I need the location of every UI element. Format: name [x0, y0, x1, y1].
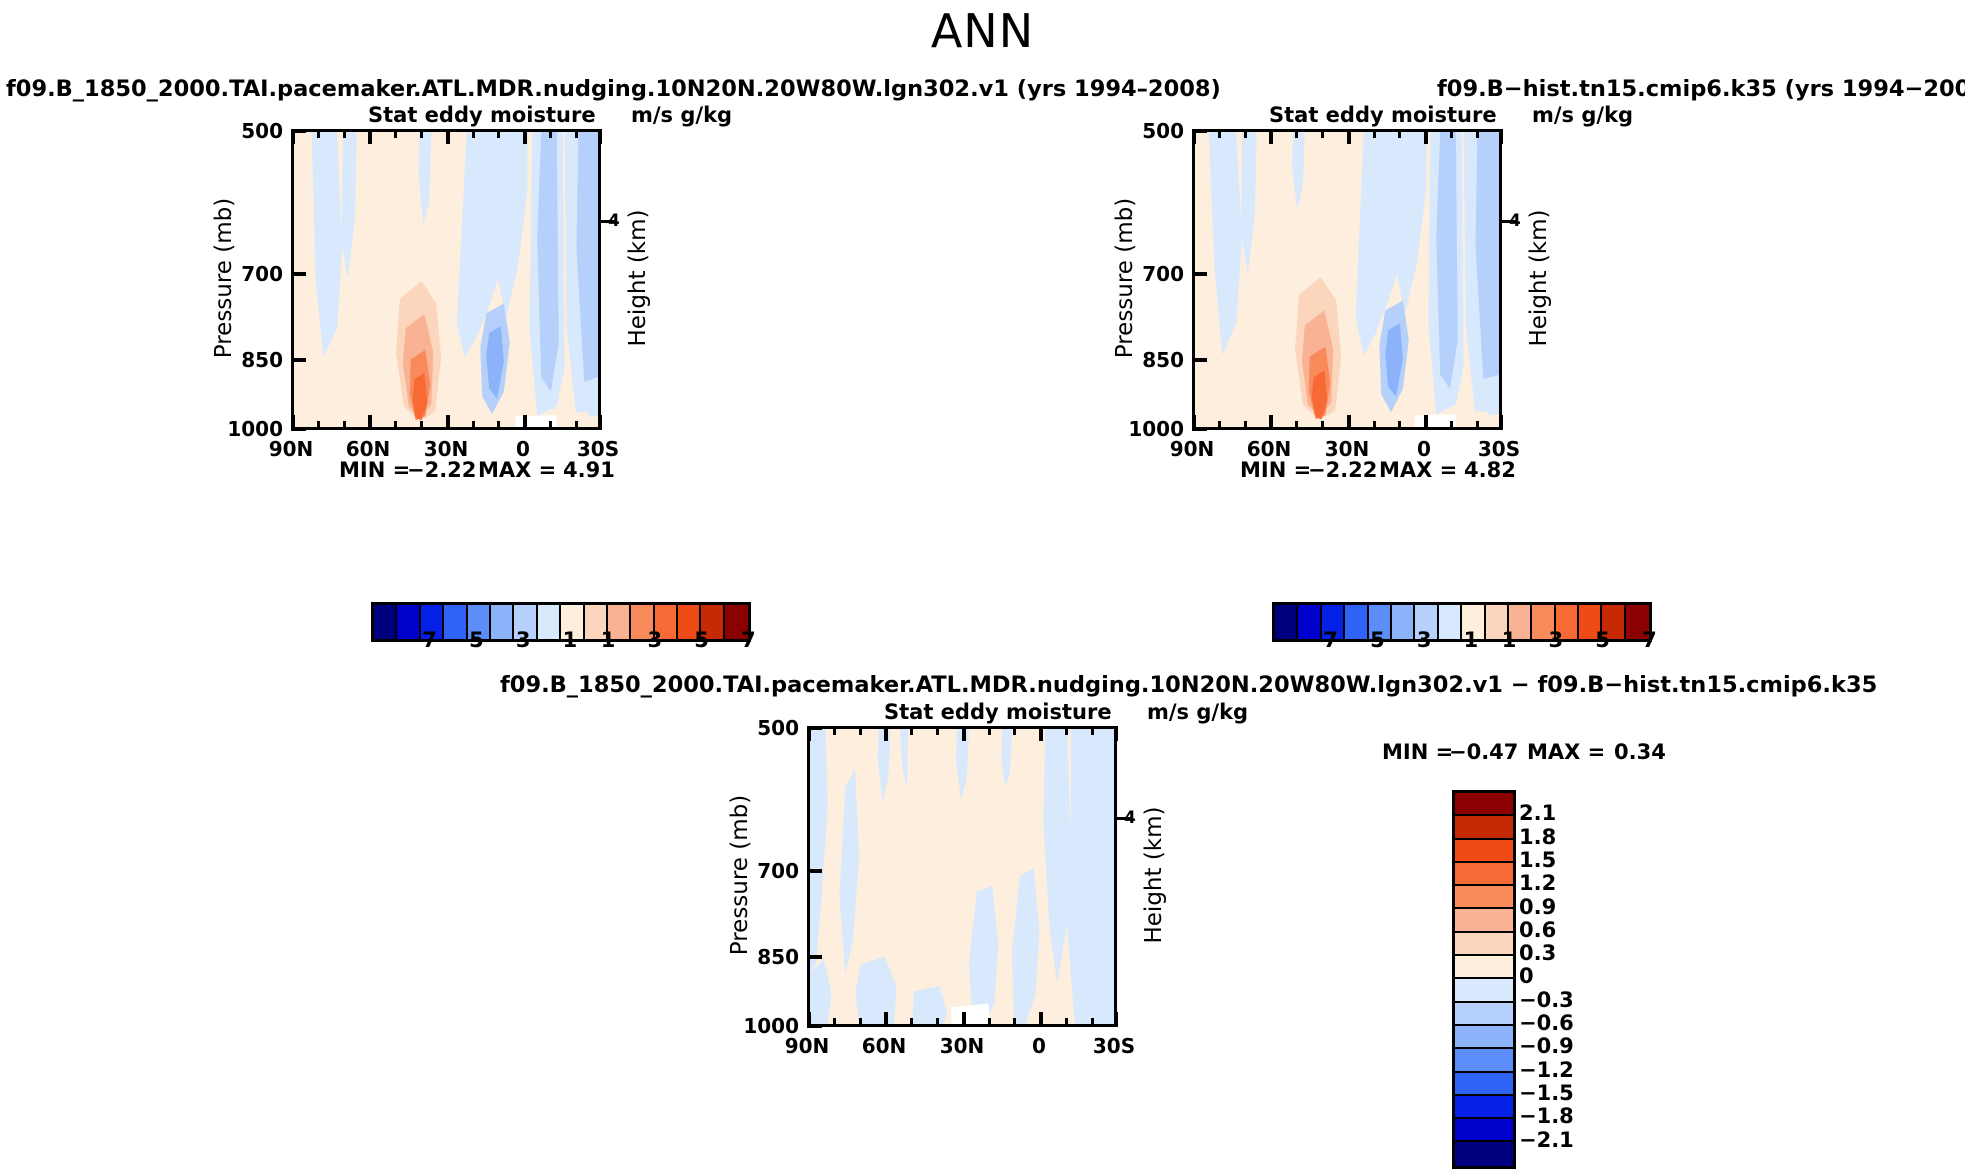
tick	[1398, 421, 1401, 430]
tick	[420, 129, 423, 138]
tick	[291, 129, 306, 133]
tick	[807, 869, 822, 873]
tick	[598, 415, 602, 430]
tick	[936, 726, 939, 735]
tick	[446, 415, 450, 430]
tick	[343, 129, 346, 138]
tick	[368, 129, 372, 144]
tick	[833, 1018, 836, 1027]
tick	[1114, 1012, 1118, 1027]
colorbar-tick-label: 1	[601, 628, 616, 652]
colorbar-tick-label: 7	[741, 628, 756, 652]
min-label-top-left: MIN =	[339, 458, 410, 482]
tick	[1091, 726, 1094, 735]
tick	[1295, 421, 1298, 430]
tick	[1424, 415, 1428, 430]
tick	[1192, 358, 1207, 362]
tick	[1218, 129, 1221, 138]
tick	[291, 358, 306, 362]
max-value-difference: 0.34	[1614, 740, 1666, 764]
xtick-label: 90N	[269, 437, 314, 461]
tick	[291, 427, 306, 431]
variable-label-top-right: Stat eddy moisture	[1269, 103, 1497, 127]
tick	[1347, 415, 1351, 430]
units-label-difference: m/s g/kg	[1147, 700, 1248, 724]
tick	[598, 129, 602, 144]
tick	[988, 1018, 991, 1027]
tick	[962, 1012, 966, 1027]
colorbar-cell	[1455, 840, 1513, 863]
tick	[1398, 129, 1401, 138]
colorbar-tick-label: −1.8	[1519, 1104, 1574, 1128]
tick	[523, 129, 527, 144]
tick	[575, 129, 578, 138]
tick	[859, 1018, 862, 1027]
colorbar-tick-label: −5	[1352, 628, 1384, 652]
xtick-label: 30N	[940, 1034, 985, 1058]
colorbar-cell	[1455, 1073, 1513, 1096]
ytick-label: 500	[741, 716, 799, 740]
tick	[523, 415, 527, 430]
tick	[1269, 415, 1273, 430]
tick	[394, 129, 397, 138]
colorbar-cell	[1455, 979, 1513, 1002]
min-label-difference: MIN =	[1382, 740, 1453, 764]
height-mark-top-right: 4	[1509, 211, 1521, 231]
tick	[446, 129, 450, 144]
units-label-top-right: m/s g/kg	[1532, 103, 1633, 127]
colorbar-tick-label: 5	[694, 628, 709, 652]
colorbar-tick-label: 1.8	[1519, 825, 1556, 849]
colorbar-tick-label: 7	[1642, 628, 1657, 652]
yaxis-title-top-left: Pressure (mb)	[211, 193, 237, 363]
colorbar-tick-label: −2.1	[1519, 1128, 1574, 1152]
tick	[807, 955, 822, 959]
max-label-top-left: MAX =	[478, 458, 556, 482]
colorbar-tick-label: 0.9	[1519, 895, 1556, 919]
y2axis-title-top-left: Height (km)	[625, 193, 651, 363]
tick	[1244, 129, 1247, 138]
colorbar-tick-label: 0.6	[1519, 918, 1556, 942]
tick	[497, 129, 500, 138]
height-mark-top-left: 4	[608, 211, 620, 231]
tick	[575, 421, 578, 430]
min-value-difference: −0.47	[1449, 740, 1518, 764]
units-label-top-left: m/s g/kg	[631, 103, 732, 127]
max-label-top-right: MAX =	[1379, 458, 1457, 482]
height-mark-difference: 4	[1124, 808, 1136, 828]
colorbar-tick-label: 3	[647, 628, 662, 652]
tick	[343, 421, 346, 430]
colorbar-tick-label: −3	[1399, 628, 1431, 652]
colorbar-tick-label: −3	[498, 628, 530, 652]
tick	[1295, 129, 1298, 138]
tick	[910, 726, 913, 735]
max-label-difference: MAX =	[1527, 740, 1605, 764]
colorbar-tick-label: 3	[1548, 628, 1563, 652]
colorbar-tick-label: 2.1	[1519, 801, 1556, 825]
min-value-top-right: −2.22	[1308, 458, 1377, 482]
colorbar-tick-label: 1.2	[1519, 871, 1556, 895]
tick	[1244, 421, 1247, 430]
tick	[1192, 427, 1207, 431]
max-value-top-right: 4.82	[1464, 458, 1516, 482]
xtick-label: 60N	[862, 1034, 907, 1058]
tick	[807, 726, 822, 730]
colorbar-cell	[1455, 1003, 1513, 1026]
tick	[394, 421, 397, 430]
tick	[1065, 1018, 1068, 1027]
tick	[1065, 726, 1068, 735]
tick	[1424, 129, 1428, 144]
tick	[1347, 129, 1351, 144]
tick	[1450, 129, 1453, 138]
colorbar-tick-label: −7	[405, 628, 437, 652]
colorbar-tick-label: −1.5	[1519, 1081, 1574, 1105]
colorbar-tick-label: 1.5	[1519, 848, 1556, 872]
colorbar-cell	[1455, 1096, 1513, 1119]
y2axis-title-difference: Height (km)	[1141, 790, 1167, 960]
tick	[472, 421, 475, 430]
tick	[1321, 129, 1324, 138]
ytick-label: 500	[225, 119, 283, 143]
xtick-label: 0	[1032, 1034, 1046, 1058]
tick	[472, 129, 475, 138]
colorbar-tick-label: −5	[451, 628, 483, 652]
tick	[1373, 421, 1376, 430]
colorbar-tick-label: 0.3	[1519, 941, 1556, 965]
ytick-label: 500	[1126, 119, 1184, 143]
tick	[368, 415, 372, 430]
tick	[1373, 129, 1376, 138]
colorbar-cell	[1455, 933, 1513, 956]
colorbar-cell	[1455, 1049, 1513, 1072]
tick	[1192, 272, 1207, 276]
colorbar-tick-label: 5	[1595, 628, 1610, 652]
tick	[1476, 129, 1479, 138]
tick	[910, 1018, 913, 1027]
tick	[1499, 415, 1503, 430]
colorbar-cell	[1455, 816, 1513, 839]
tick	[1192, 129, 1207, 133]
tick	[317, 129, 320, 138]
tick	[807, 1024, 822, 1028]
tick	[1013, 726, 1016, 735]
xtick-label: 90N	[785, 1034, 830, 1058]
colorbar-cell	[1455, 1026, 1513, 1049]
tick	[420, 421, 423, 430]
y2axis-title-top-right: Height (km)	[1526, 193, 1552, 363]
xtick-label: 90N	[1170, 437, 1215, 461]
contour-field-top-left	[294, 132, 598, 427]
tick	[988, 726, 991, 735]
panel-title-top-right: f09.B−hist.tn15.cmip6.k35 (yrs 1994−2008…	[1437, 76, 1965, 102]
colorbar-cell	[1455, 793, 1513, 816]
colorbar-difference[interactable]	[1452, 790, 1516, 1169]
colorbar-cell	[1455, 886, 1513, 909]
tick	[1218, 421, 1221, 430]
yaxis-title-top-right: Pressure (mb)	[1112, 193, 1138, 363]
colorbar-tick-label: −1	[1446, 628, 1478, 652]
colorbar-cell	[1455, 909, 1513, 932]
colorbar-tick-label: −7	[1306, 628, 1338, 652]
tick	[1039, 1012, 1043, 1027]
panel-title-top-left: f09.B_1850_2000.TAI.pacemaker.ATL.MDR.nu…	[6, 76, 1221, 102]
season-title: ANN	[0, 4, 1965, 58]
colorbar-cell	[1275, 605, 1298, 639]
contour-field-top-right	[1195, 132, 1499, 427]
tick	[1499, 129, 1503, 144]
variable-label-top-left: Stat eddy moisture	[368, 103, 596, 127]
tick	[1476, 421, 1479, 430]
xtick-label: 30S	[1093, 1034, 1135, 1058]
tick	[884, 1012, 888, 1027]
tick	[884, 726, 888, 741]
min-label-top-right: MIN =	[1240, 458, 1311, 482]
tick	[1039, 726, 1043, 741]
colorbar-tick-label: −0.6	[1519, 1011, 1574, 1035]
min-value-top-left: −2.22	[407, 458, 476, 482]
colorbar-cell	[374, 605, 397, 639]
yaxis-title-difference: Pressure (mb)	[727, 790, 753, 960]
tick	[1321, 421, 1324, 430]
max-value-top-left: 4.91	[563, 458, 615, 482]
colorbar-tick-label: 0	[1519, 964, 1534, 988]
tick	[1450, 421, 1453, 430]
tick	[962, 726, 966, 741]
tick	[1091, 1018, 1094, 1027]
tick	[1114, 726, 1118, 741]
variable-label-difference: Stat eddy moisture	[884, 700, 1112, 724]
colorbar-tick-label: −0.3	[1519, 988, 1574, 1012]
tick	[833, 726, 836, 735]
tick	[1013, 1018, 1016, 1027]
colorbar-tick-label: −1.2	[1519, 1058, 1574, 1082]
colorbar-tick-label: −0.9	[1519, 1034, 1574, 1058]
colorbar-tick-label: −1	[545, 628, 577, 652]
tick	[859, 726, 862, 735]
contour-plot-top-right[interactable]	[1192, 129, 1502, 430]
colorbar-tick-label: 1	[1502, 628, 1517, 652]
tick	[549, 421, 552, 430]
colorbar-cell	[1455, 956, 1513, 979]
contour-plot-top-left[interactable]	[291, 129, 601, 430]
colorbar-cell	[1455, 1119, 1513, 1142]
colorbar-cell	[1455, 863, 1513, 886]
colorbar-cell	[1455, 1142, 1513, 1165]
contour-field-difference	[810, 729, 1114, 1024]
panel-title-difference: f09.B_1850_2000.TAI.pacemaker.ATL.MDR.nu…	[500, 672, 1877, 698]
tick	[317, 421, 320, 430]
tick	[291, 272, 306, 276]
tick	[497, 421, 500, 430]
tick	[549, 129, 552, 138]
contour-plot-difference[interactable]	[807, 726, 1117, 1027]
tick	[1269, 129, 1273, 144]
tick	[936, 1018, 939, 1027]
